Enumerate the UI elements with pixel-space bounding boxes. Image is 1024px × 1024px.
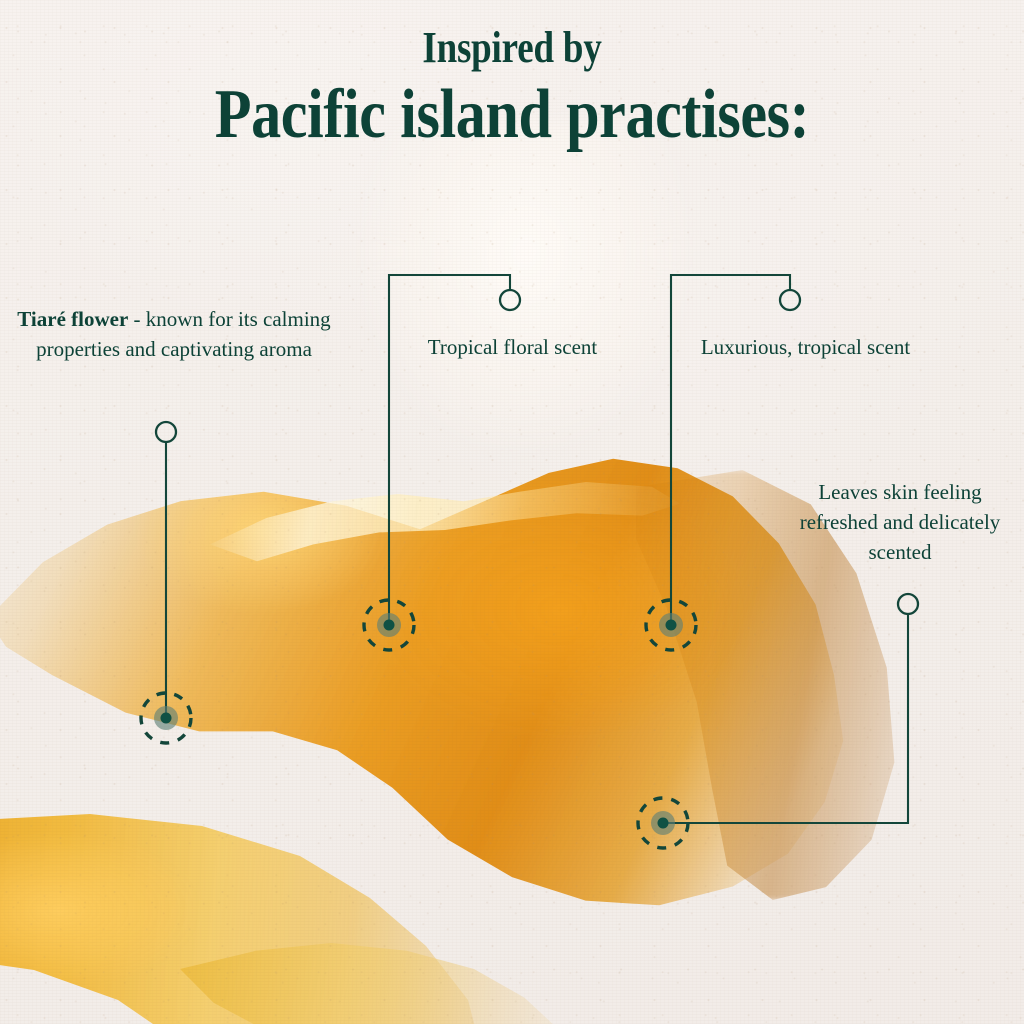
title-kicker: Inspired by (82, 26, 942, 70)
title-main: Pacific island practises: (72, 76, 953, 154)
callout-body-luxurious-tropical-scent: Luxurious, tropical scent (701, 335, 910, 359)
callout-lead-tiare-flower: Tiaré flower (17, 307, 128, 331)
connector-tropical-floral-scent (364, 275, 520, 650)
connector-tiare-flower (141, 422, 191, 743)
connector-end-circle (500, 290, 520, 310)
connector-luxurious-tropical-scent (646, 275, 800, 650)
marker-core-dot (666, 620, 677, 631)
connector-end-circle (898, 594, 918, 614)
marker-core-dot (384, 620, 395, 631)
marker-core-dot (658, 818, 669, 829)
callout-text-tropical-floral-scent: Tropical floral scent (405, 333, 620, 363)
connector-end-circle (780, 290, 800, 310)
infographic-canvas: Inspired by Pacific island practises: (0, 0, 1024, 1024)
connector-line (671, 275, 790, 625)
callout-text-tiare-flower: Tiaré flower - known for its calming pro… (14, 305, 334, 365)
connector-line (389, 275, 510, 625)
page-title: Inspired by Pacific island practises: (0, 26, 1024, 154)
connector-end-circle (156, 422, 176, 442)
marker-core-dot (161, 713, 172, 724)
callout-body-tropical-floral-scent: Tropical floral scent (428, 335, 598, 359)
callout-body-leaves-skin-refreshed: Leaves skin feeling refreshed and delica… (800, 480, 1001, 564)
callout-text-luxurious-tropical-scent: Luxurious, tropical scent (698, 333, 913, 363)
callout-text-leaves-skin-refreshed: Leaves skin feeling refreshed and delica… (784, 478, 1016, 567)
connector-line (663, 614, 908, 823)
